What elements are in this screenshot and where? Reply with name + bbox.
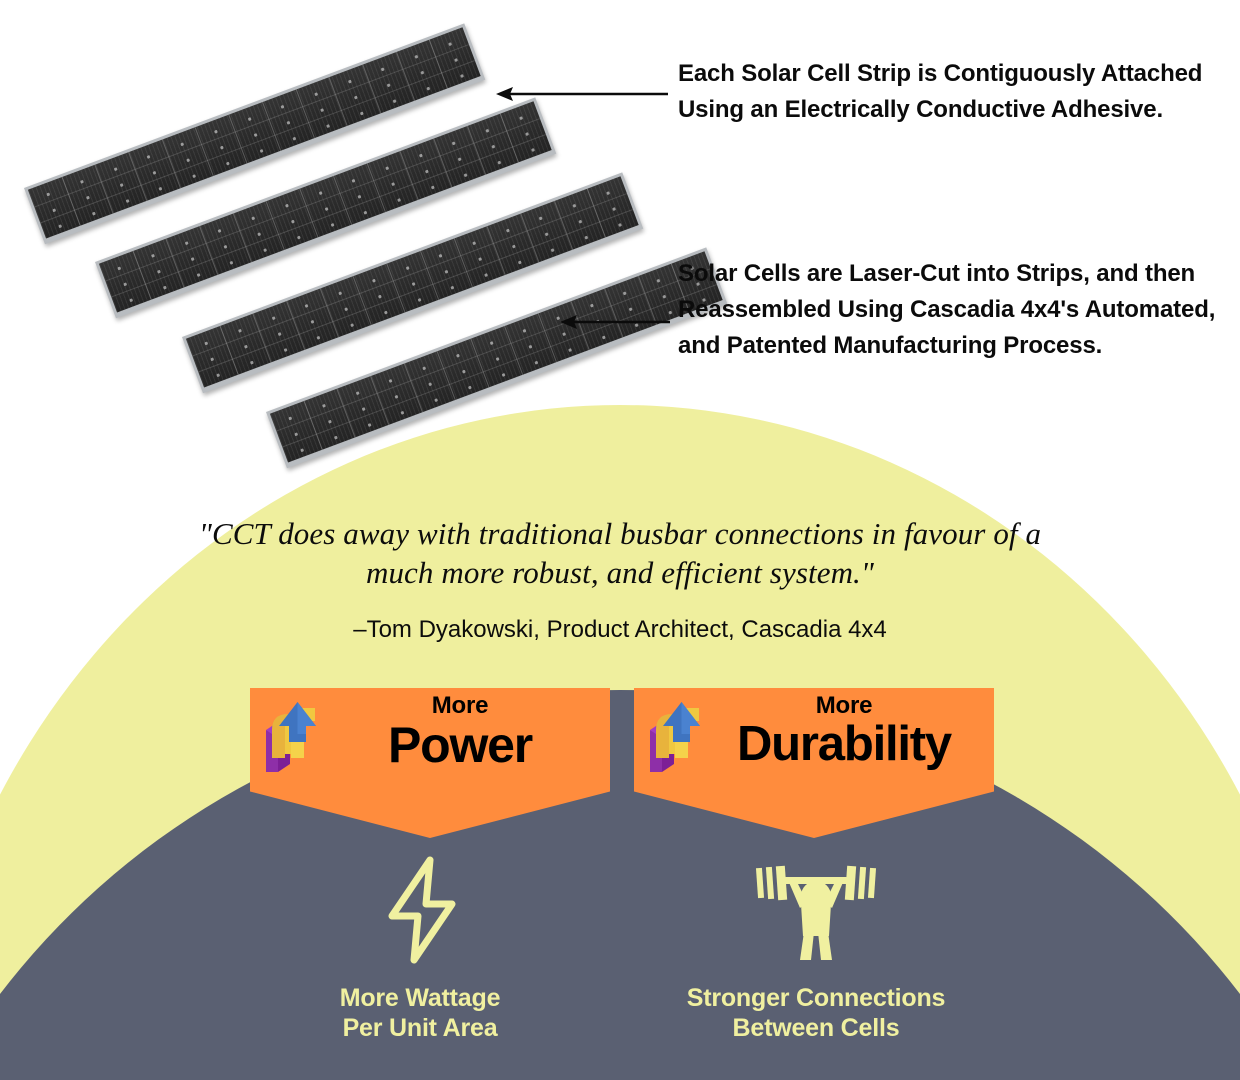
benefit-sub-label: More	[320, 694, 600, 718]
feature-icon-wrap	[250, 855, 590, 965]
feature-power: More Wattage Per Unit Area	[250, 855, 590, 1043]
solar-cell-strip-group	[0, 0, 740, 430]
callout-text-adhesive: Each Solar Cell Strip is Contiguously At…	[678, 56, 1238, 128]
weightlifter-icon	[755, 858, 877, 962]
benefit-title: Power	[320, 720, 600, 770]
infographic-canvas: Each Solar Cell Strip is Contiguously At…	[0, 0, 1240, 1080]
arrow-left-icon	[560, 310, 670, 334]
feature-caption-line1: More Wattage	[250, 983, 590, 1013]
feature-durability: Stronger Connections Between Cells	[646, 855, 986, 1043]
arrow-left-icon	[496, 82, 668, 106]
lightning-bolt-icon	[374, 856, 466, 964]
feature-caption-power: More Wattage Per Unit Area	[250, 983, 590, 1043]
feature-caption-line1: Stronger Connections	[646, 983, 986, 1013]
quote-attribution: –Tom Dyakowski, Product Architect, Casca…	[170, 616, 1070, 644]
feature-icon-wrap	[646, 855, 986, 965]
callout-text-laser-cut: Solar Cells are Laser-Cut into Strips, a…	[678, 256, 1238, 364]
benefit-title: Durability	[704, 720, 984, 769]
benefit-banner-labels: More Power	[320, 688, 610, 770]
growth-arrow-icon	[258, 700, 320, 778]
growth-arrow-icon	[642, 700, 704, 778]
benefit-banner-labels: More Durability	[704, 688, 994, 769]
quote-block: "CCT does away with traditional busbar c…	[170, 514, 1070, 644]
feature-caption-line2: Per Unit Area	[250, 1013, 590, 1043]
quote-text: "CCT does away with traditional busbar c…	[170, 514, 1070, 592]
feature-caption-line2: Between Cells	[646, 1013, 986, 1043]
benefit-sub-label: More	[704, 694, 984, 718]
feature-caption-durability: Stronger Connections Between Cells	[646, 983, 986, 1043]
